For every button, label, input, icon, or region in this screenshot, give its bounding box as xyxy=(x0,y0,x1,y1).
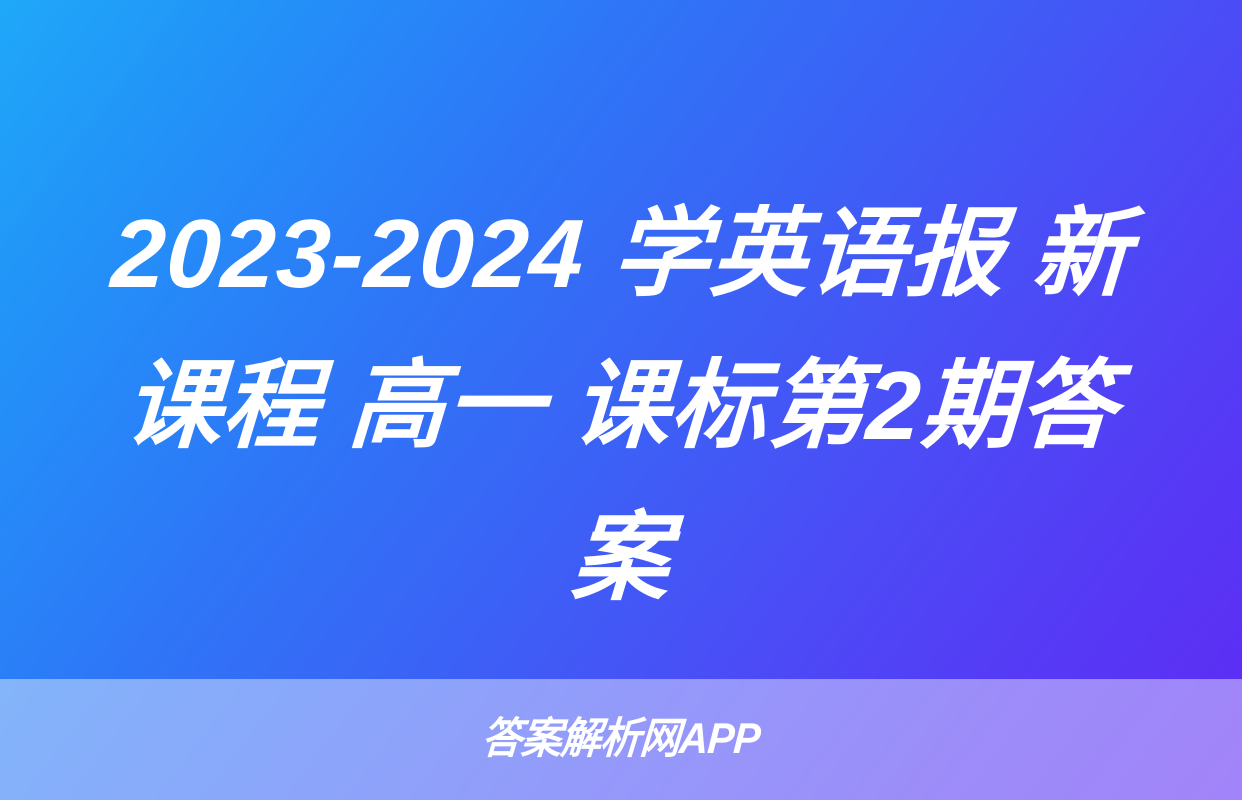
page-title: 2023-2024 学英语报 新 课程 高一 课标第2期答 案 xyxy=(62,178,1180,634)
title-line-1: 2023-2024 学英语报 新 xyxy=(58,178,1184,330)
watermark-band: 答案解析网APP xyxy=(0,679,1242,800)
title-line-2: 课程 高一 课标第2期答 xyxy=(58,330,1184,482)
poster-canvas: 2023-2024 学英语报 新 课程 高一 课标第2期答 案 答案解析网APP xyxy=(0,0,1242,800)
app-watermark-label: 答案解析网APP xyxy=(481,718,762,761)
title-line-3: 案 xyxy=(58,482,1184,634)
